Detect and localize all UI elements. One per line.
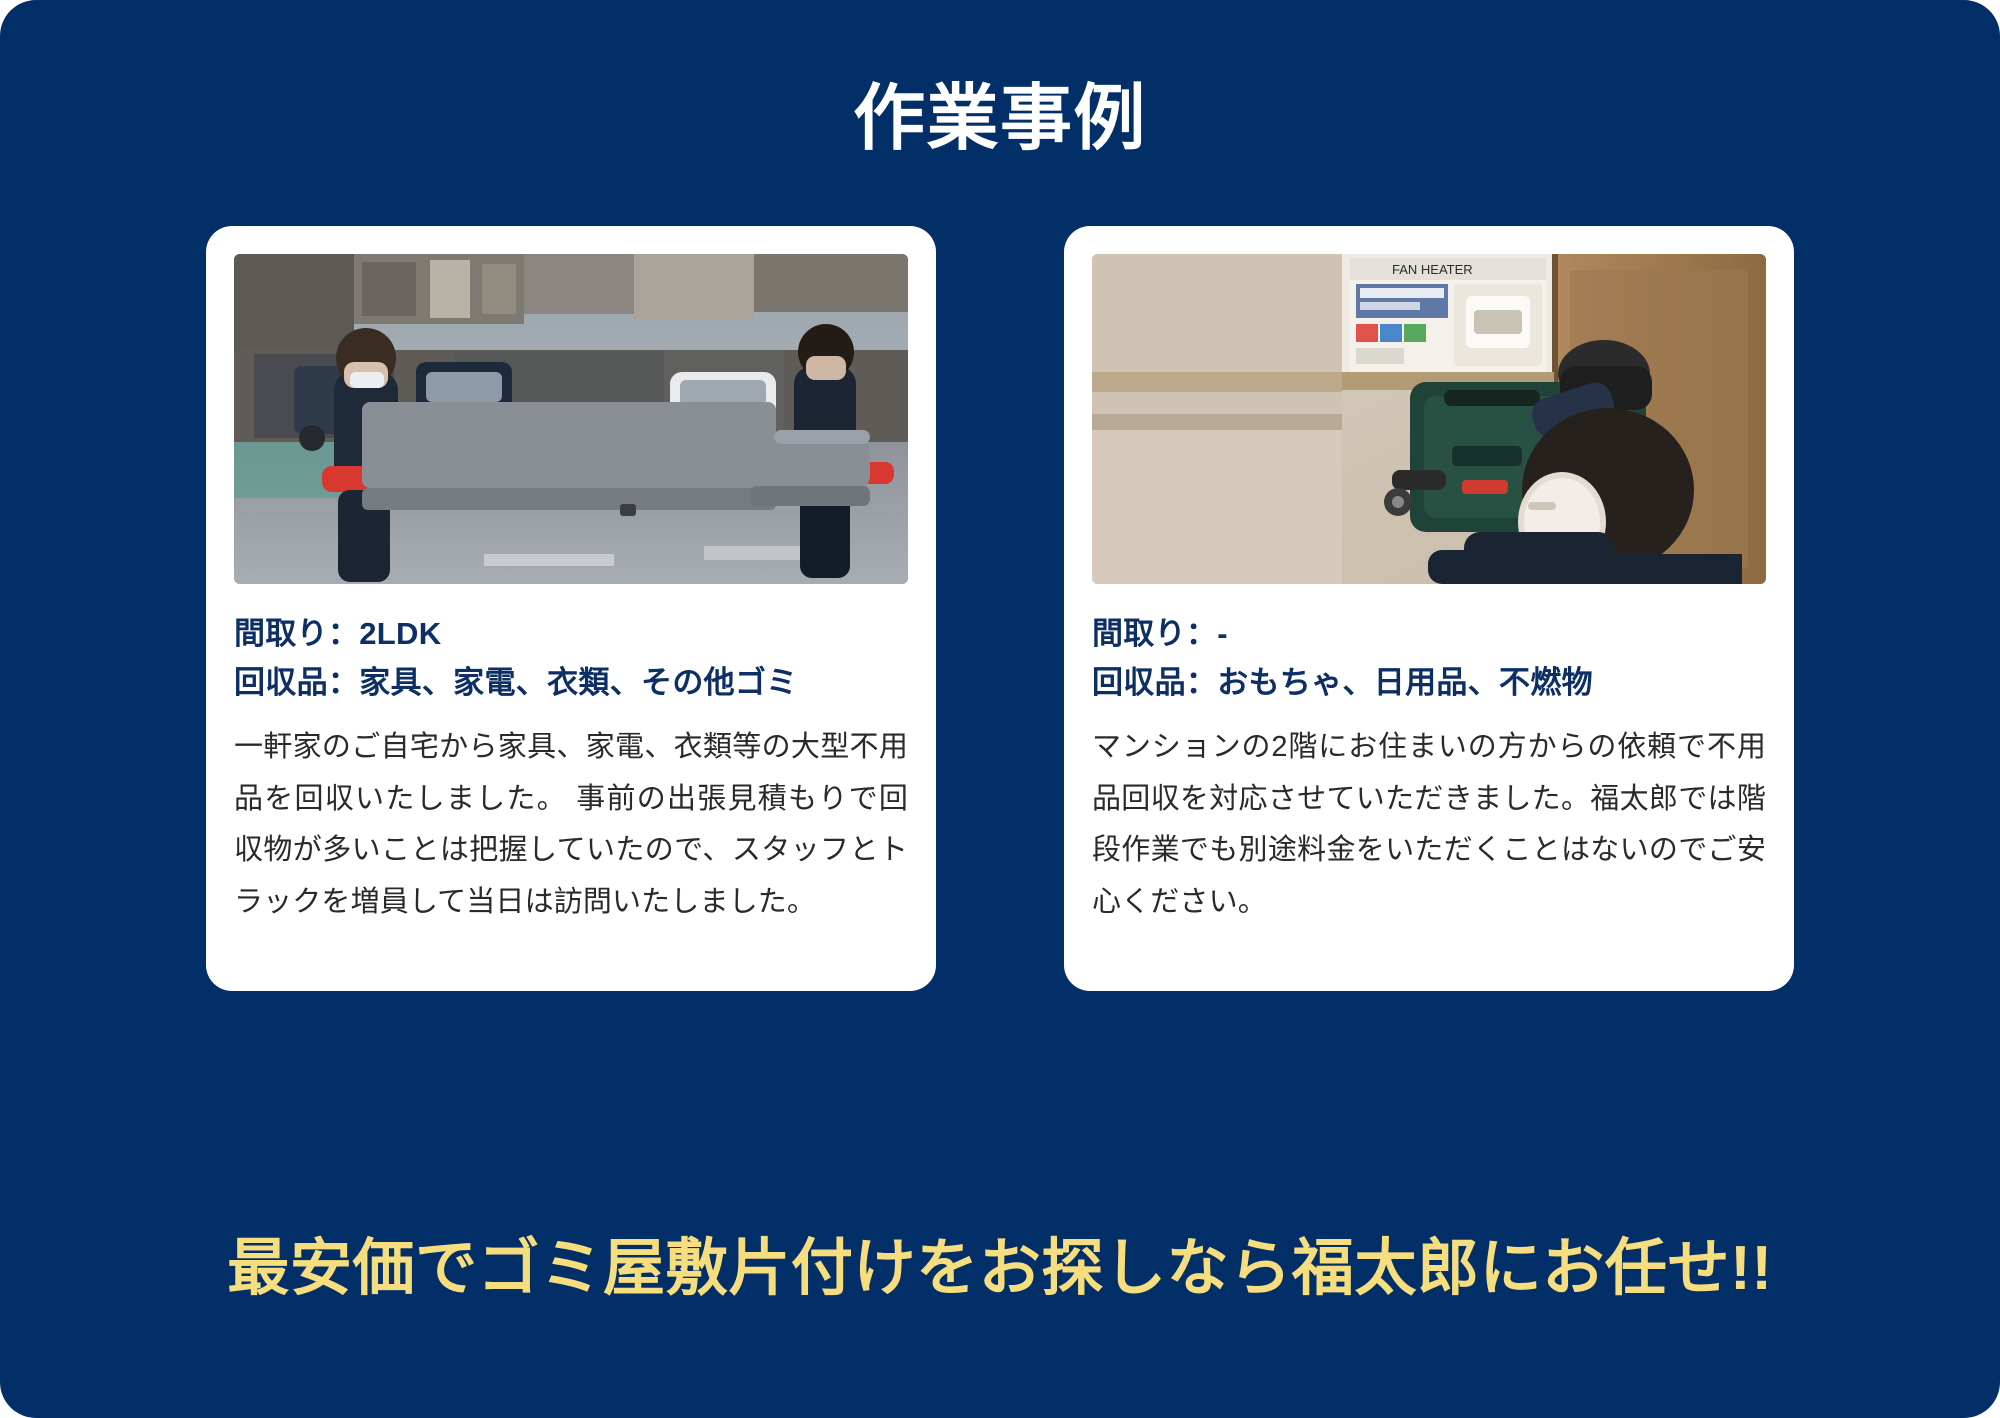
case-items-label: 回収品：家具、家電、衣類、その他ゴミ	[234, 659, 908, 708]
work-examples-section: 作業事例	[0, 0, 2000, 1418]
case-layout-label: 間取り：-	[1092, 610, 1766, 659]
case-items-label: 回収品：おもちゃ、日用品、不燃物	[1092, 659, 1766, 708]
case-photo-closet-removal: FAN HEATER	[1092, 254, 1766, 584]
case-layout-label: 間取り：2LDK	[234, 610, 908, 659]
svg-text:FAN HEATER: FAN HEATER	[1392, 262, 1473, 277]
case-card: 間取り：2LDK 回収品：家具、家電、衣類、その他ゴミ 一軒家のご自宅から家具、…	[206, 226, 936, 991]
case-card: FAN HEATER	[1064, 226, 1794, 991]
case-card-list: 間取り：2LDK 回収品：家具、家電、衣類、その他ゴミ 一軒家のご自宅から家具、…	[0, 226, 2000, 991]
footer-cta-text: 最安価でゴミ屋敷片付けをお探しなら福太郎にお任せ!!	[0, 1232, 2000, 1306]
case-meta: 間取り：- 回収品：おもちゃ、日用品、不燃物	[1092, 610, 1766, 708]
case-description: 一軒家のご自宅から家具、家電、衣類等の大型不用品を回収いたしました。 事前の出張…	[234, 722, 908, 928]
page-title: 作業事例	[0, 0, 2000, 164]
case-photo-sofa-removal	[234, 254, 908, 584]
case-meta: 間取り：2LDK 回収品：家具、家電、衣類、その他ゴミ	[234, 610, 908, 708]
case-description: マンションの2階にお住まいの方からの依頼で不用品回収を対応させていただきました。…	[1092, 722, 1766, 928]
